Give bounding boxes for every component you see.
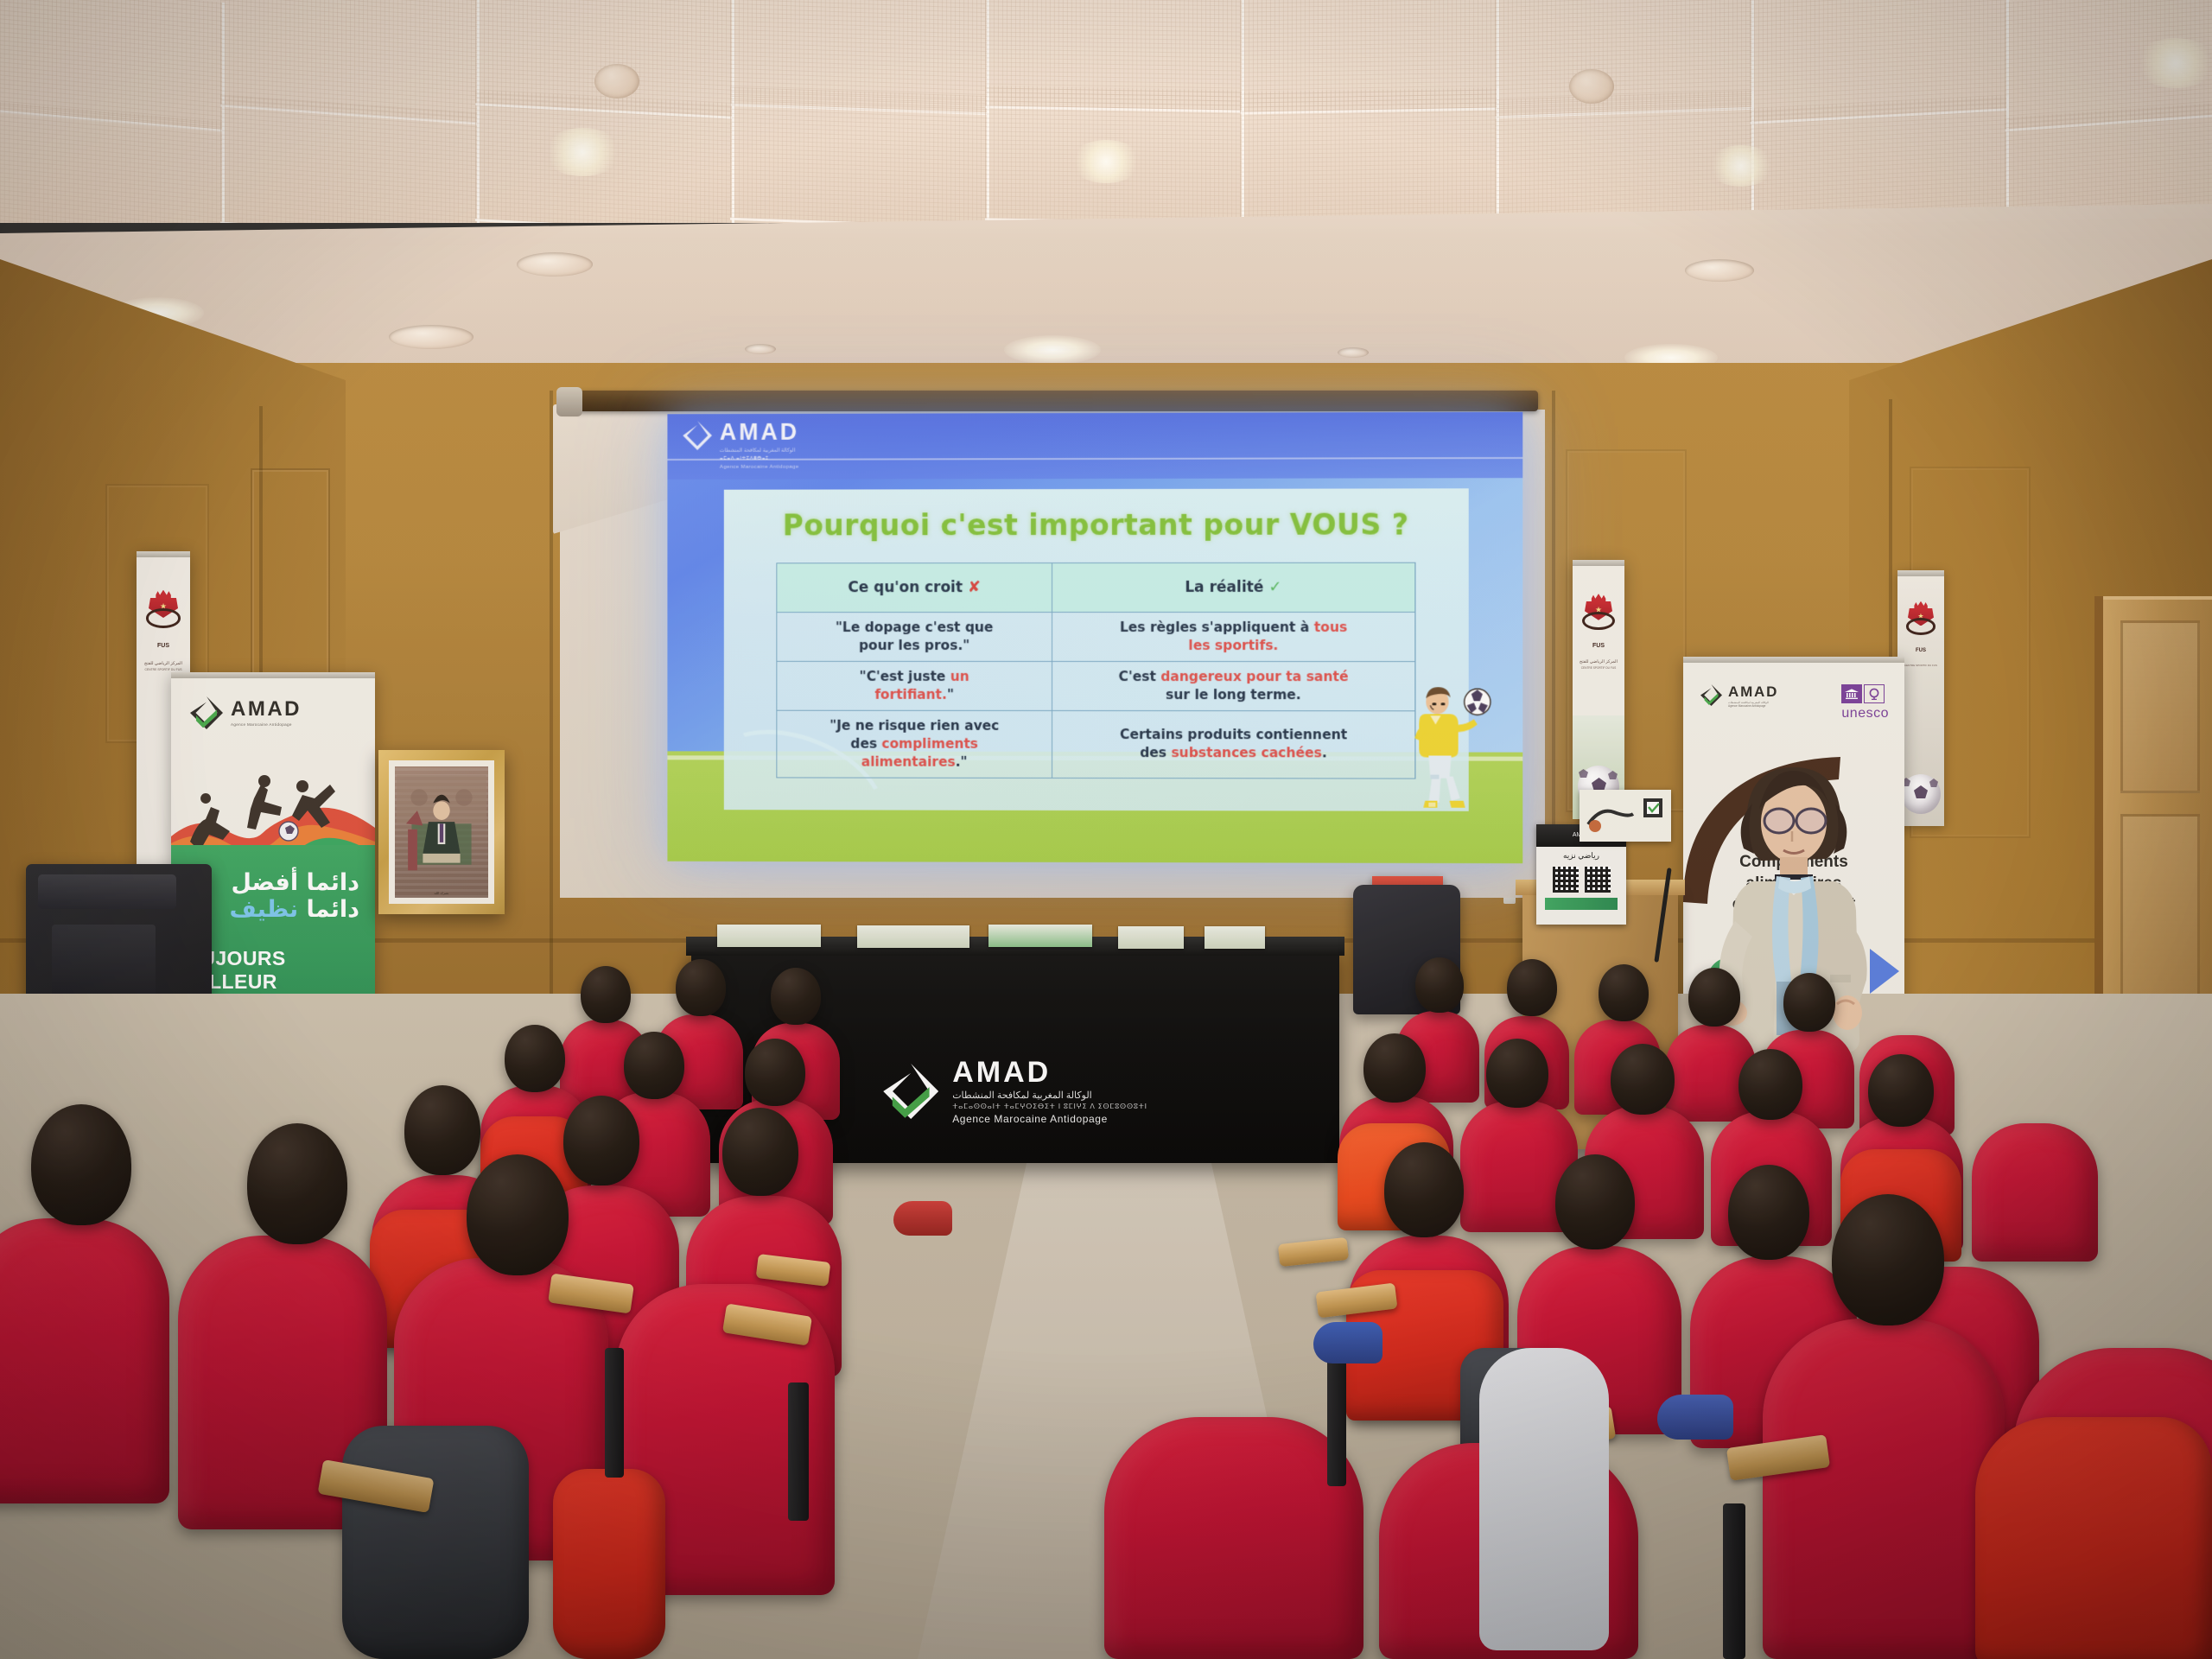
amad-french: Agence Marocaine Antidopage <box>952 1113 1147 1125</box>
amad-brand-text: AMAD <box>720 421 799 444</box>
amad-brand: AMAD <box>1728 684 1778 699</box>
fus-caption-fr: CENTRE SPORTIF DU FUS <box>1573 666 1624 670</box>
audience-head <box>404 1085 480 1175</box>
audience-head <box>1555 1154 1635 1249</box>
roller-end-cap <box>556 387 582 416</box>
audience-leg-white <box>1479 1348 1609 1650</box>
audience-head <box>1738 1049 1802 1120</box>
table-header-row: Ce qu'on croit ✘ La réalité ✓ <box>777 563 1415 613</box>
unesco-wordmark: unesco <box>1841 706 1889 721</box>
audience-head <box>1415 957 1464 1013</box>
fus-label: FUS <box>1573 643 1624 649</box>
audience-head <box>581 966 631 1023</box>
amad-brand-sub: Agence Marocaine Antidopage <box>231 722 302 727</box>
amad-brand-sub: الوكالة المغربية لمكافحة المنشطاتAgence … <box>1728 701 1778 708</box>
seat-leg <box>788 1382 809 1521</box>
brochure[interactable] <box>1118 926 1184 949</box>
audience-shoe <box>1313 1322 1382 1363</box>
ceiling-vent <box>594 64 639 99</box>
amad-diamond-icon <box>683 421 712 450</box>
amad-brand: AMAD <box>952 1058 1147 1087</box>
brochure[interactable] <box>988 925 1092 947</box>
auditorium-photo: AMAD الوكالة المغربية لمكافحة المنشطات ⴰ… <box>0 0 2212 1659</box>
framed-royal-portrait: نصرك الله <box>378 750 505 914</box>
amad-sub-fr: Agence Marocaine Antidopage <box>720 463 799 471</box>
amad-banner-arabic-2b: نظيف <box>229 896 298 923</box>
table-row: "C'est juste un fortifiant." C'est dange… <box>777 662 1415 711</box>
ceiling-light <box>1707 145 1775 187</box>
fus-caption-ar: المركز الرياضي للفتح <box>137 661 190 666</box>
audience-head <box>1507 959 1557 1016</box>
presentation-slide: AMAD الوكالة المغربية لمكافحة المنشطات ⴰ… <box>667 412 1522 863</box>
comparison-table: Ce qu'on croit ✘ La réalité ✓ "Le dopage… <box>776 563 1415 779</box>
audience-head <box>1783 973 1835 1032</box>
soccer-player-illustration <box>1397 679 1502 841</box>
audience-head <box>247 1123 347 1244</box>
fus-caption-fr: CENTRE SPORTIF DU FUS <box>137 668 190 671</box>
qr-code[interactable] <box>1585 867 1611 893</box>
amad-table-logo: AMAD الوكالة المغربية لمكافحة المنشطات ⵜ… <box>883 1058 1147 1125</box>
seat-leg <box>1723 1503 1745 1659</box>
audience-head <box>676 959 726 1016</box>
fus-label: FUS <box>137 643 190 649</box>
amad-logo-mark <box>883 1064 938 1119</box>
audience-head <box>771 968 821 1025</box>
audience-head <box>1486 1039 1548 1108</box>
audience-torso <box>553 1469 665 1659</box>
recessed-downlight <box>1685 259 1754 282</box>
audience-head <box>1363 1033 1426 1103</box>
audience-head <box>745 1039 805 1106</box>
audience-head <box>31 1104 131 1225</box>
fus-crest-icon: ★ <box>149 598 178 629</box>
seat-leg <box>1327 1357 1346 1486</box>
seat[interactable] <box>1104 1417 1363 1659</box>
amad-brand: AMAD <box>231 699 302 720</box>
slide-title: Pourquoi c'est important pour VOUS ? <box>724 507 1469 542</box>
audience-head <box>1832 1194 1944 1325</box>
cell-reality-3: Certains produits contiennent des substa… <box>1052 710 1415 778</box>
audience-head <box>1611 1044 1675 1115</box>
cell-reality-2: C'est dangereux pour ta santé sur le lon… <box>1052 662 1415 711</box>
recessed-downlight <box>389 325 474 349</box>
audience-head <box>624 1032 684 1099</box>
header-cell-belief: Ce qu'on croit ✘ <box>777 563 1052 613</box>
fus-caption-ar: المركز الرياضي للفتح <box>1573 659 1624 664</box>
check-icon: ✓ <box>1268 578 1281 596</box>
qr-code[interactable] <box>1553 867 1579 893</box>
seat[interactable] <box>0 1218 169 1503</box>
audience-head <box>722 1108 798 1196</box>
amad-logo-mark <box>1700 684 1722 706</box>
table-row: "Le dopage c'est que pour les pros." Les… <box>777 613 1415 662</box>
audience-head <box>467 1154 569 1275</box>
audience-head <box>1384 1142 1464 1237</box>
audience-head <box>1868 1054 1934 1127</box>
recessed-downlight <box>1338 347 1369 358</box>
audience-head <box>563 1096 639 1185</box>
slide-content-card: Pourquoi c'est important pour VOUS ? Ce … <box>724 488 1469 811</box>
header-cell-reality: La réalité ✓ <box>1052 563 1415 613</box>
flyer-arabic-title: رياضي نزيه <box>1536 851 1626 861</box>
recessed-downlight <box>517 252 593 276</box>
audience-head <box>1688 968 1740 1027</box>
brochure[interactable] <box>1205 926 1265 949</box>
podium-poster <box>1580 790 1671 842</box>
banner-fus-right: ★ FUS المركز الرياضي للفتح CENTRE SPORTI… <box>1573 560 1624 819</box>
cross-icon: ✘ <box>968 578 981 596</box>
downlight-glow <box>1004 335 1101 365</box>
amad-arabic: الوكالة المغربية لمكافحة المنشطات <box>952 1090 1147 1101</box>
table-row: "Je ne risque rien avec des compliments … <box>777 710 1415 779</box>
amad-sub-tif: ⴰⵎⴰⴷ ⴰⵏⵜⵉⴷⵓⴱⴰⵊ <box>720 455 799 463</box>
brochure[interactable] <box>717 925 821 947</box>
cell-belief-3: "Je ne risque rien avec des compliments … <box>777 710 1052 778</box>
audience-torso <box>1975 1417 2212 1659</box>
amad-logo-slide: AMAD الوكالة المغربية لمكافحة المنشطات ⴰ… <box>683 421 799 472</box>
ceiling-light <box>543 128 622 176</box>
unesco-logo: unesco <box>1841 684 1889 721</box>
ceiling-light <box>1070 140 1142 183</box>
amad-banner-arabic-2a: دائما <box>298 896 359 923</box>
ceiling-vent <box>1569 69 1614 104</box>
cell-reality-1: Les règles s'appliquent à tous les sport… <box>1052 613 1415 662</box>
ceiling-light <box>2134 38 2212 88</box>
seat[interactable] <box>1763 1319 2005 1659</box>
audience-shoe <box>893 1201 952 1236</box>
fus-crest-icon: ★ <box>1585 601 1612 631</box>
audience-head <box>505 1025 565 1092</box>
audience-shoe <box>1657 1395 1733 1440</box>
ceiling <box>0 0 2212 223</box>
table-top <box>686 937 1344 956</box>
amad-tifinagh: ⵜⴰⵎⴰⵙⵙⴰⵏⵜ ⵜⴰⵎⵖⵔⵉⴱⵉⵜ ⵏ ⵓⵎⵏⵖⵉ ⴷ ⵉⵙⵎⵓⵙⵙⵓⵜⵏ <box>952 1103 1147 1110</box>
amad-logo-mark <box>190 696 223 729</box>
seat-leg <box>605 1348 624 1478</box>
cell-belief-2: "C'est juste un fortifiant." <box>777 662 1052 711</box>
amad-sub-ar: الوكالة المغربية لمكافحة المنشطات <box>720 448 799 455</box>
screen-roller-housing <box>562 391 1538 411</box>
audience-head <box>1728 1165 1809 1260</box>
audience-head <box>1599 964 1649 1021</box>
recessed-downlight <box>745 344 776 354</box>
framed-ball-photo: ★ FUS CENTRE SPORTIF DU FUS <box>1897 570 1944 826</box>
cell-belief-1: "Le dopage c'est que pour les pros." <box>777 613 1052 662</box>
door[interactable] <box>2094 596 2212 1028</box>
brochure[interactable] <box>857 925 969 948</box>
seat[interactable] <box>1972 1123 2098 1262</box>
audience-torso <box>342 1426 529 1659</box>
